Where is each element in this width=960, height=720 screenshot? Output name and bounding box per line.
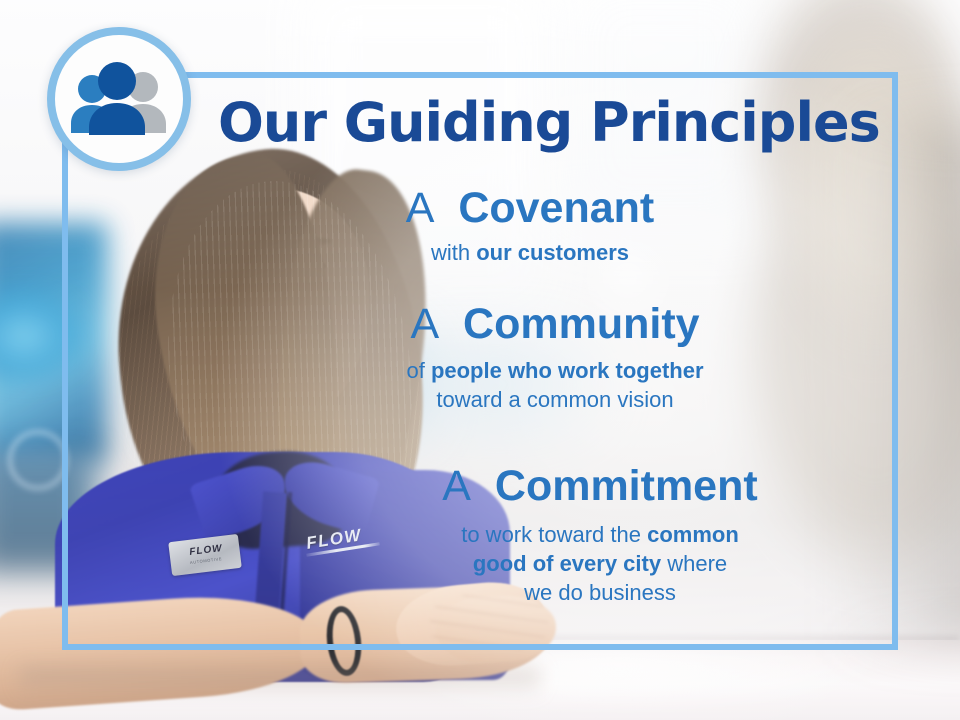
principle-covenant-subline-1: with our customers bbox=[250, 238, 810, 267]
principle-covenant-word: Covenant bbox=[458, 184, 654, 232]
principle-covenant-heading: A Covenant bbox=[250, 186, 810, 232]
poster-text: Our Guiding Principles A Covenant with o… bbox=[0, 0, 960, 720]
principle-commitment-subline-1: to work toward the common bbox=[320, 520, 880, 549]
principle-community-word: Community bbox=[463, 300, 700, 348]
principle-commitment-word: Commitment bbox=[495, 462, 758, 510]
principle-covenant-subtext: with our customers bbox=[250, 238, 810, 267]
principle-community-subtext: of people who work together toward a com… bbox=[275, 356, 835, 414]
principle-commitment-heading: A Commitment bbox=[320, 464, 880, 510]
poster-canvas: FLOW AUTOMOTIVE FLOW Our Guiding Prin bbox=[0, 0, 960, 720]
principle-covenant-article: A bbox=[406, 184, 447, 232]
principle-commitment-subline-2: good of every city where bbox=[320, 549, 880, 578]
principle-community-subline-1: of people who work together bbox=[275, 356, 835, 385]
principle-commitment-article: A bbox=[442, 462, 483, 510]
principle-community-article: A bbox=[410, 300, 451, 348]
principle-covenant: A Covenant with our customers bbox=[250, 186, 810, 267]
principle-commitment-subline-3: we do business bbox=[320, 578, 880, 607]
principle-commitment: A Commitment to work toward the common g… bbox=[320, 464, 880, 607]
principle-commitment-subtext: to work toward the common good of every … bbox=[320, 520, 880, 607]
principle-community-heading: A Community bbox=[275, 302, 835, 348]
page-title: Our Guiding Principles bbox=[218, 96, 858, 150]
principle-community-subline-2: toward a common vision bbox=[275, 385, 835, 414]
principle-community: A Community of people who work together … bbox=[275, 302, 835, 414]
